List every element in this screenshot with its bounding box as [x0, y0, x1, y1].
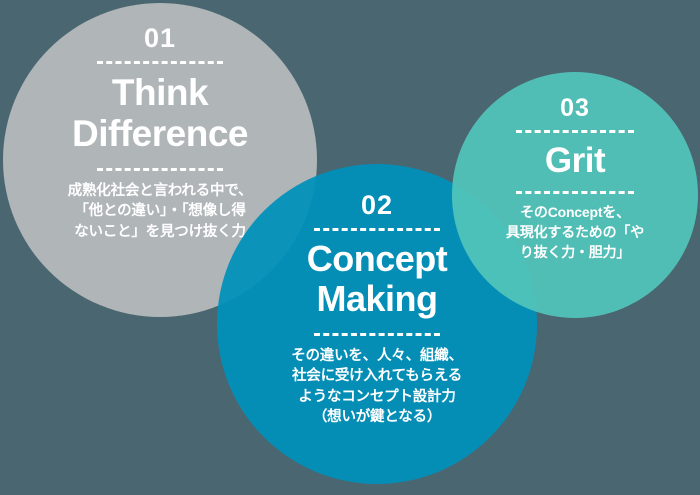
circle-number-03: 03 [560, 96, 590, 121]
divider-top-02 [314, 228, 440, 231]
circle-desc-line-03-2: 具現化するための「や [482, 223, 668, 243]
divider-top-03 [516, 130, 634, 133]
divider-bottom-02 [314, 333, 440, 336]
circle-title-01: Think Difference [72, 72, 248, 155]
circle-number-02: 02 [361, 192, 393, 219]
circle-desc-line-02-2: 社会に受け入れてもらえる [243, 366, 511, 387]
divider-top-01 [97, 61, 223, 64]
circle-title-line-01-2: Difference [72, 113, 248, 154]
circle-description-03: そのConceptを、 具現化するための「や り抜く力・胆力」 [482, 203, 668, 263]
circle-title-03: Grit [545, 141, 605, 180]
circle-grit[interactable]: 03 Grit そのConceptを、 具現化するための「や り抜く力・胆力」 [452, 72, 698, 318]
circle-title-line-02-1: Concept [307, 239, 448, 279]
circle-desc-line-02-3: ようなコンセプト設計力 [243, 387, 511, 408]
circle-desc-line-01-1: 成熟化社会と言われる中で、 [35, 181, 285, 202]
circle-title-02: Concept Making [307, 239, 448, 320]
circle-desc-line-01-2: 「他との違い」・「想像し得 [35, 201, 285, 222]
divider-bottom-03 [516, 191, 634, 194]
circle-desc-line-03-1: そのConceptを、 [482, 203, 668, 223]
circle-description-02: その違いを、人々、組織、 社会に受け入れてもらえる ようなコンセプト設計力 （想… [243, 346, 511, 428]
circle-number-01: 01 [144, 25, 176, 52]
circle-title-line-03-1: Grit [545, 141, 605, 180]
circle-desc-line-03-3: り抜く力・胆力」 [482, 243, 668, 263]
circle-desc-line-02-1: その違いを、人々、組織、 [243, 346, 511, 367]
circle-title-line-01-1: Think [72, 72, 248, 113]
divider-bottom-01 [97, 168, 223, 171]
diagram-canvas: 01 Think Difference 成熟化社会と言われる中で、 「他との違い… [0, 0, 700, 495]
circle-title-line-02-2: Making [307, 279, 448, 319]
circle-desc-line-02-4: （想いが鍵となる） [243, 407, 511, 428]
